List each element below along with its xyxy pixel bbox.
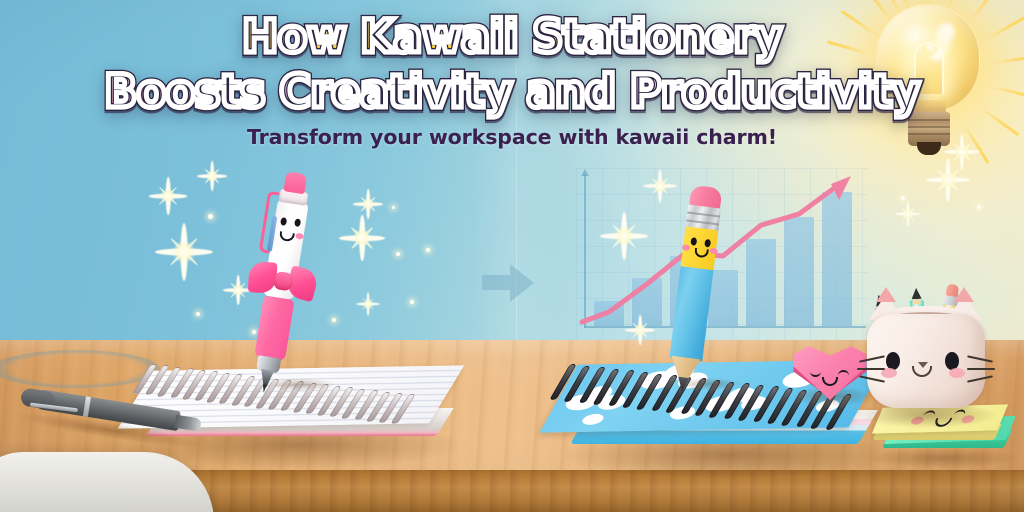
- pencil-face-blush-left: [682, 244, 691, 251]
- cat-smile: [912, 366, 932, 377]
- pencil-face-eye-right: [704, 239, 711, 248]
- pencil-lead-tip: [676, 377, 689, 392]
- cat-pencil-holder: [855, 278, 995, 430]
- cat-blush-right: [949, 368, 965, 378]
- cat-ear-inner-right: [954, 287, 974, 302]
- cat-holder-body: [867, 314, 985, 408]
- bulb-ray: [980, 107, 1019, 136]
- pen-nib: [262, 384, 267, 393]
- cat-whisker-r3: [967, 375, 993, 382]
- sparkle-dot-8: [392, 206, 395, 209]
- bulb-ray: [841, 10, 881, 38]
- bulb-ray: [991, 85, 1024, 99]
- bulb-ray: [963, 123, 990, 164]
- pen-pink-grip: [254, 295, 294, 361]
- cat-whisker-l2: [857, 368, 885, 370]
- cat-ear-inner-left: [876, 287, 896, 302]
- sparkle-dot-6: [426, 248, 430, 252]
- cat-whisker-r1: [967, 355, 993, 362]
- bulb-screw-base: [908, 112, 950, 146]
- cat-whisker-r2: [967, 368, 995, 370]
- sparkle-dot-7: [410, 300, 414, 304]
- cat-whisker-l3: [859, 375, 885, 382]
- sticky-stack-shadow: [868, 448, 1018, 468]
- pencil-face-eye-left: [690, 237, 697, 246]
- cat-whisker-l1: [859, 355, 885, 362]
- sparkle-dot-5: [396, 252, 400, 256]
- sparkle-dot-10: [977, 205, 981, 209]
- pencil-face-blush-right: [709, 248, 718, 255]
- heart-eye-winking: [810, 370, 821, 377]
- pen-knock-button: [283, 171, 307, 194]
- pencil-face-band: [680, 226, 718, 272]
- bulb-ray: [992, 55, 1024, 64]
- heart-eye-right: [838, 370, 849, 377]
- kawaii-stationery-banner: How Kawaii Stationery Boosts Creativity …: [0, 0, 1024, 512]
- pen-bow-tie: [246, 259, 320, 304]
- sparkle-dot-9: [901, 196, 905, 200]
- bulb-filament: [914, 42, 944, 94]
- sparkle-dot-1: [208, 214, 213, 219]
- pencil-face-smile: [694, 248, 709, 259]
- pencil-lead-tip: [911, 288, 922, 300]
- heart-smile: [822, 377, 838, 386]
- sparkle-dot-2: [196, 312, 200, 316]
- sparkle-dot-4: [332, 318, 336, 322]
- bulb-ray: [984, 16, 1024, 42]
- bulb-ray: [968, 0, 999, 24]
- pencil-body: [669, 266, 713, 361]
- flow-arrow-right-icon: [482, 262, 534, 302]
- light-bulb-icon: [838, 0, 1024, 174]
